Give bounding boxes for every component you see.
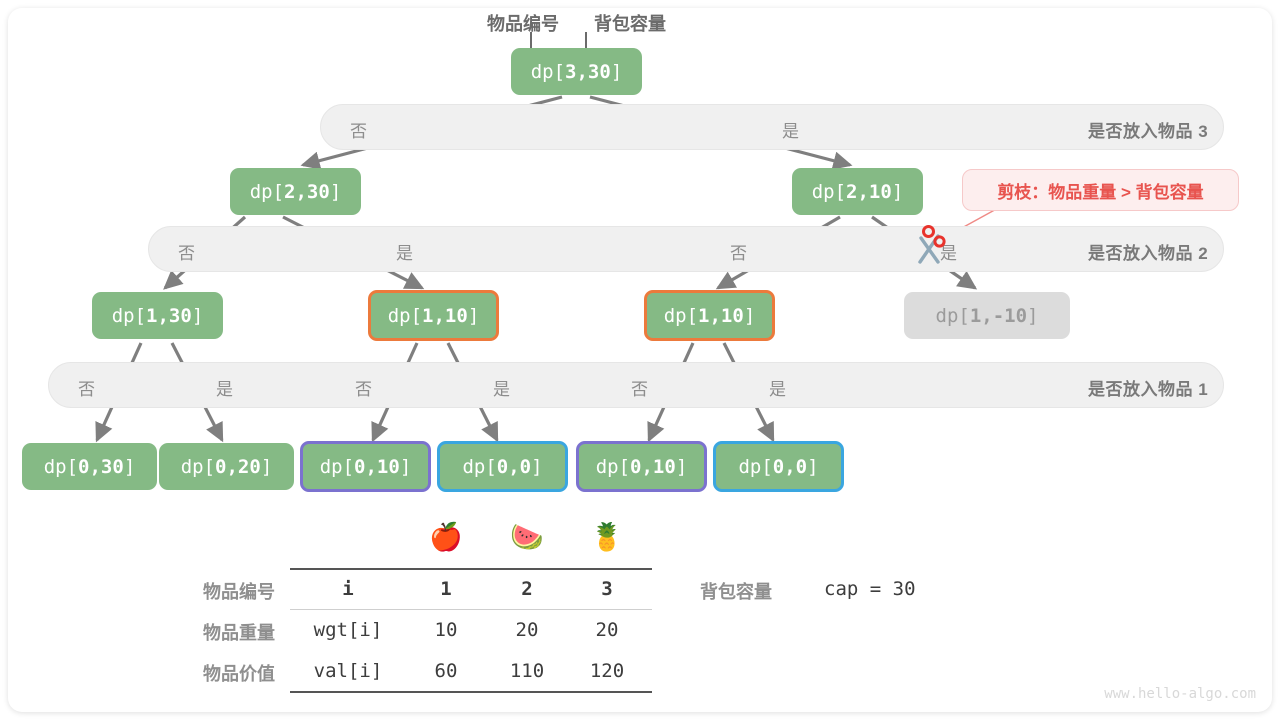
node-dp-0-0-left[interactable]: dp[0,0] (437, 441, 568, 492)
node-dp-1-10-left[interactable]: dp[1,10] (368, 290, 499, 341)
cell-i-3: 3 (567, 578, 647, 600)
fruit-icon-watermelon: 🍉 (505, 524, 549, 551)
cell-wgt-3: 20 (567, 619, 647, 641)
band1-choice-no-2: 否 (355, 375, 372, 400)
band3-choice-yes: 是 (782, 117, 799, 142)
band1-choice-yes-3: 是 (769, 375, 786, 400)
band-title-3: 是否放入物品 3 (1088, 117, 1208, 142)
capacity-label: 背包容量 (700, 578, 772, 604)
fruit-icon-pineapple: 🍍 (585, 524, 629, 551)
cell-val-3: 120 (567, 660, 647, 682)
node-dp-0-30[interactable]: dp[0,30] (22, 443, 157, 490)
band2-choice-no-1: 否 (178, 239, 195, 264)
cell-wgt-1: 10 (406, 619, 486, 641)
node-text: dp[0,0] (738, 456, 818, 478)
table-rule-bottom (290, 691, 652, 693)
cell-val-2: 110 (487, 660, 567, 682)
node-text: dp[1,30] (112, 305, 204, 327)
node-text: dp[0,30] (44, 456, 136, 478)
cell-val-1: 60 (406, 660, 486, 682)
row-label-item-index: 物品编号 (130, 578, 275, 604)
cell-val-name: val[i] (298, 660, 398, 682)
cell-i-2: 2 (487, 578, 567, 600)
watermark: www.hello-algo.com (1104, 686, 1256, 702)
row-label-item-value: 物品价值 (130, 660, 275, 686)
node-dp-0-20[interactable]: dp[0,20] (159, 443, 294, 490)
node-dp-2-10[interactable]: dp[2,10] (792, 168, 923, 215)
table-rule-mid (290, 609, 652, 610)
band1-choice-yes-1: 是 (216, 375, 233, 400)
node-text: dp[3,30] (531, 61, 623, 83)
diagram-stage: 物品编号 背包容量 是否放入物品 3 否 是 是否放入物品 2 否 是 否 是 … (0, 0, 1280, 720)
band1-choice-no-1: 否 (78, 375, 95, 400)
band3-choice-no: 否 (350, 117, 367, 142)
cell-wgt-name: wgt[i] (298, 619, 398, 641)
node-text: dp[1,-10] (936, 305, 1039, 327)
band1-choice-no-3: 否 (631, 375, 648, 400)
node-dp-1-30[interactable]: dp[1,30] (92, 292, 223, 339)
scissors-icon (908, 222, 956, 270)
node-text: dp[0,0] (462, 456, 542, 478)
band-title-1: 是否放入物品 1 (1088, 375, 1208, 400)
band2-choice-no-2: 否 (730, 239, 747, 264)
node-dp-3-30[interactable]: dp[3,30] (511, 48, 642, 95)
band2-choice-yes-1: 是 (396, 239, 413, 264)
node-dp-1-minus10-pruned[interactable]: dp[1,-10] (904, 292, 1070, 339)
node-text: dp[0,10] (596, 456, 688, 478)
cell-i-name: i (298, 578, 398, 600)
table-rule-top (290, 568, 652, 570)
pruning-callout: 剪枝：物品重量 > 背包容量 (962, 169, 1239, 211)
band-title-2: 是否放入物品 2 (1088, 239, 1208, 264)
node-text: dp[0,10] (320, 456, 412, 478)
node-text: dp[2,30] (250, 181, 342, 203)
band-item-2 (148, 226, 1224, 272)
fruit-icon-apple: 🍎 (424, 524, 468, 551)
node-dp-1-10-right[interactable]: dp[1,10] (644, 290, 775, 341)
node-dp-0-0-right[interactable]: dp[0,0] (713, 441, 844, 492)
node-text: dp[1,10] (664, 305, 756, 327)
capacity-value: cap = 30 (824, 578, 916, 600)
node-dp-0-10-right[interactable]: dp[0,10] (576, 441, 707, 492)
node-text: dp[2,10] (812, 181, 904, 203)
cell-i-1: 1 (406, 578, 486, 600)
node-text: dp[0,20] (181, 456, 273, 478)
node-text: dp[1,10] (388, 305, 480, 327)
cell-wgt-2: 20 (487, 619, 567, 641)
row-label-item-weight: 物品重量 (130, 619, 275, 645)
node-dp-0-10-left[interactable]: dp[0,10] (300, 441, 431, 492)
band1-choice-yes-2: 是 (493, 375, 510, 400)
node-dp-2-30[interactable]: dp[2,30] (230, 168, 361, 215)
